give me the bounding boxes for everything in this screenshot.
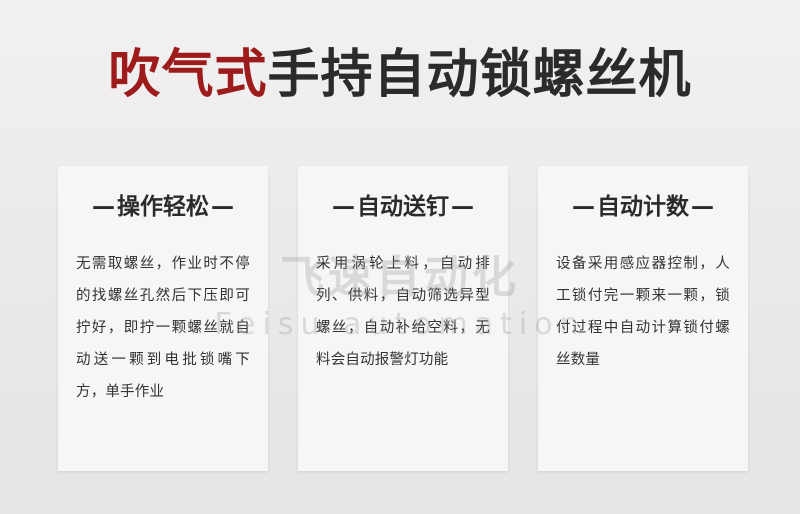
feature-card-title-text: 自动送钉 (357, 194, 449, 220)
title-dash-left: — (330, 194, 357, 220)
title-dash-right: — (689, 194, 716, 220)
feature-card-body: 无需取螺丝，作业时不停的找螺丝孔然后下压即可拧好，即拧一颗螺丝就自动送一颗到电批… (76, 248, 250, 408)
feature-card-body: 设备采用感应器控制，人工锁付完一颗来一颗，锁付过程中自动计算锁付螺丝数量 (556, 248, 730, 376)
feature-card-body: 采用涡轮上料，自动排列、供料，自动筛选异型螺丝，自动补给空料，无料会自动报警灯功… (316, 248, 490, 376)
feature-card: —自动送钉— 采用涡轮上料，自动排列、供料，自动筛选异型螺丝，自动补给空料，无料… (298, 166, 508, 471)
feature-card-title-text: 操作轻松 (117, 194, 209, 220)
feature-card-title-text: 自动计数 (597, 194, 689, 220)
feature-card-title: —自动送钉— (316, 192, 490, 222)
feature-card-title: —操作轻松— (76, 192, 250, 222)
title-rest: 手持自动锁螺丝机 (268, 45, 692, 105)
title-dash-right: — (209, 194, 236, 220)
page-title: 吹气式手持自动锁螺丝机 (0, 44, 800, 106)
title-dash-left: — (570, 194, 597, 220)
title-dash-left: — (90, 194, 117, 220)
feature-card: —自动计数— 设备采用感应器控制，人工锁付完一颗来一颗，锁付过程中自动计算锁付螺… (538, 166, 748, 471)
title-highlight: 吹气式 (108, 45, 267, 105)
feature-card: —操作轻松— 无需取螺丝，作业时不停的找螺丝孔然后下压即可拧好，即拧一颗螺丝就自… (58, 166, 268, 471)
title-dash-right: — (449, 194, 476, 220)
promo-page: 吹气式手持自动锁螺丝机 飞速自动化 Feisu automation —操作轻松… (0, 0, 800, 514)
feature-card-title: —自动计数— (556, 192, 730, 222)
feature-card-list: —操作轻松— 无需取螺丝，作业时不停的找螺丝孔然后下压即可拧好，即拧一颗螺丝就自… (58, 166, 748, 471)
